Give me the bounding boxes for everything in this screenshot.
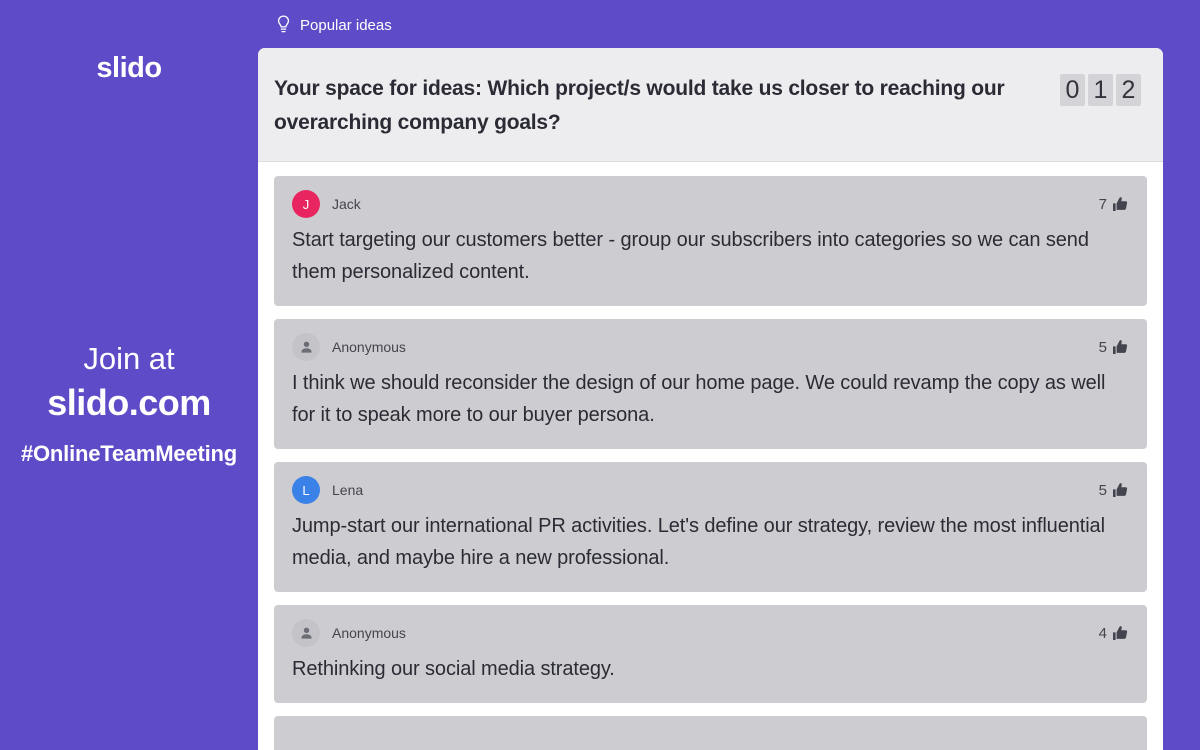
- author-name: Jack: [332, 196, 361, 212]
- thumbs-up-icon: [1112, 339, 1129, 356]
- join-url-label: slido.com: [0, 379, 258, 428]
- thumbs-up-icon: [1112, 625, 1129, 642]
- like-button[interactable]: 7: [1099, 196, 1129, 213]
- panel-header: Your space for ideas: Which project/s wo…: [258, 48, 1163, 162]
- avatar: J: [292, 190, 320, 218]
- like-button[interactable]: 5: [1099, 482, 1129, 499]
- idea-card[interactable]: L Lena 5 Jump-start our international PR…: [274, 462, 1147, 592]
- popular-ideas-label: Popular ideas: [276, 15, 392, 35]
- idea-author: Anonymous: [292, 619, 406, 647]
- idea-meta: Anonymous 5: [292, 333, 1129, 361]
- counter-digit: 1: [1088, 74, 1113, 106]
- lightbulb-icon: [276, 15, 291, 35]
- idea-text: Jump-start our international PR activiti…: [292, 510, 1129, 574]
- question-title: Your space for ideas: Which project/s wo…: [274, 72, 1034, 139]
- idea-meta: L Lena 5: [292, 476, 1129, 504]
- ideas-list: J Jack 7 Start targeting our customers b…: [258, 162, 1163, 750]
- sidebar: slido Join at slido.com #OnlineTeamMeeti…: [0, 0, 258, 750]
- avatar-anonymous: [292, 619, 320, 647]
- idea-text: Start targeting our customers better - g…: [292, 224, 1129, 288]
- avatar-anonymous: [292, 333, 320, 361]
- like-count: 7: [1099, 196, 1107, 213]
- like-button[interactable]: 4: [1099, 625, 1129, 642]
- idea-meta: J Jack 7: [292, 190, 1129, 218]
- like-count: 5: [1099, 339, 1107, 356]
- idea-text: I think we should reconsider the design …: [292, 367, 1129, 431]
- author-name: Anonymous: [332, 339, 406, 355]
- join-prefix-label: Join at: [0, 340, 258, 379]
- idea-text: Rethinking our social media strategy.: [292, 653, 1129, 685]
- join-instructions: Join at slido.com #OnlineTeamMeeting: [0, 340, 258, 467]
- idea-card[interactable]: Anonymous 5 I think we should reconsider…: [274, 319, 1147, 449]
- like-count: 4: [1099, 625, 1107, 642]
- event-hashtag-label: #OnlineTeamMeeting: [0, 441, 258, 467]
- popular-ideas-text: Popular ideas: [300, 17, 392, 34]
- counter-digit: 0: [1060, 74, 1085, 106]
- idea-meta: Anonymous 4: [292, 619, 1129, 647]
- thumbs-up-icon: [1112, 196, 1129, 213]
- avatar: L: [292, 476, 320, 504]
- ideas-panel: Your space for ideas: Which project/s wo…: [258, 48, 1163, 750]
- thumbs-up-icon: [1112, 482, 1129, 499]
- like-button[interactable]: 5: [1099, 339, 1129, 356]
- like-count: 5: [1099, 482, 1107, 499]
- idea-author: L Lena: [292, 476, 363, 504]
- idea-card[interactable]: [274, 716, 1147, 750]
- idea-card[interactable]: J Jack 7 Start targeting our customers b…: [274, 176, 1147, 306]
- idea-author: J Jack: [292, 190, 361, 218]
- idea-card[interactable]: Anonymous 4 Rethinking our social media …: [274, 605, 1147, 703]
- author-name: Lena: [332, 482, 363, 498]
- slido-logo: slido: [96, 52, 161, 85]
- author-name: Anonymous: [332, 625, 406, 641]
- idea-counter: 0 1 2: [1060, 74, 1141, 106]
- counter-digit: 2: [1116, 74, 1141, 106]
- idea-author: Anonymous: [292, 333, 406, 361]
